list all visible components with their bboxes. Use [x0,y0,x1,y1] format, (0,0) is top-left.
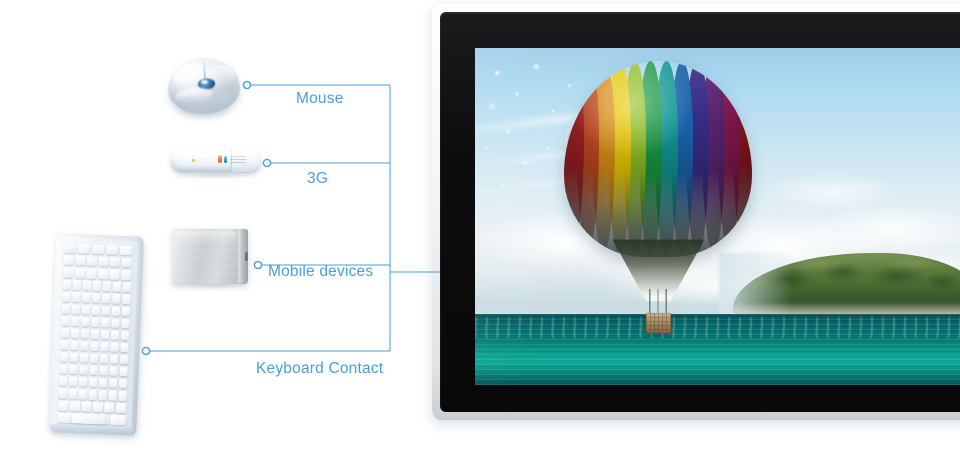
keyboard-key [93,402,103,412]
keyboard-key [116,403,126,413]
keyboard-key [81,329,90,339]
keyboard-key [69,377,78,387]
keyboard-keys [48,232,144,435]
keyboard-key [92,293,101,303]
callout-label-mouse: Mouse [296,90,344,108]
keyboard-key [92,245,105,255]
keyboard-key [110,415,126,425]
keyboard-key [75,268,85,278]
keyboard-key [82,305,91,315]
keyboard-key [111,330,120,340]
keyboard-key [122,282,131,292]
computer-mouse-image [168,58,240,114]
mouse-scroll-wheel-highlight [201,80,208,84]
keyboard-key [111,318,120,328]
keyboard-key [88,390,97,400]
keyboard-key [86,269,96,279]
keyboard-key [63,268,73,278]
keyboard-key [78,390,87,400]
keyboard-key [70,341,79,351]
keyboard-key [63,280,72,290]
keyboard-key [62,292,71,302]
keyboard-key [99,366,108,376]
lcd-monitor [432,4,960,420]
keyboard-key [60,340,69,350]
keyboard-key [122,294,131,304]
keyboard-key [59,377,68,387]
keyboard-key [82,293,91,303]
keyboard-key [64,256,74,266]
screen-island [733,253,960,317]
keyboard-key [101,330,110,340]
keyboard-key [100,354,109,364]
drive-port [245,252,248,261]
keyboard-key [72,305,81,315]
drive-body [172,228,248,284]
keyboard-key [99,378,108,388]
keyboard-key [83,281,92,291]
keyboard-key [61,328,70,338]
keyboard-key [119,379,128,389]
drive-gloss [176,230,236,244]
keyboard-key [104,403,114,413]
dongle-yellow-indicator [192,159,195,162]
keyboard-key [91,317,100,327]
keyboard-key [78,244,91,254]
keyboard-key [101,318,110,328]
keyboard-key [73,280,82,290]
balloon-envelope [564,61,752,257]
screen-hot-air-balloon [564,61,752,361]
keyboard-key [93,281,102,291]
mobile-device-image [172,228,254,286]
keyboard-key [92,305,101,315]
keyboard-key [71,329,80,339]
keyboard-key [110,258,120,268]
keyboard-key [90,354,99,364]
balloon-basket [646,313,671,333]
keyboard-key [112,294,121,304]
keyboard-key [98,257,108,267]
dongle-gloss [177,150,253,159]
keyboard-key [87,257,97,267]
keyboard-key [109,367,118,377]
keyboard-image [52,234,144,440]
keyboard-key [59,365,68,375]
keyboard-key [121,331,130,341]
keyboard-key [60,353,69,363]
keyboard-key [112,306,121,316]
keyboard-key [118,391,127,401]
keyboard-spacebar [72,414,106,425]
keyboard-key [59,389,68,399]
keyboard-key [62,304,71,314]
keyboard-key [110,342,119,352]
connector-node-mobile-devices [254,261,261,268]
connector-node-mouse [243,81,250,88]
keyboard-key [109,379,118,389]
keyboard-key [68,389,77,399]
keyboard-key [89,366,98,376]
keyboard-key [81,317,90,327]
keyboard-key [80,353,89,363]
keyboard-key [89,378,98,388]
keyboard-key [98,269,108,279]
basket-weave-texture [646,313,671,333]
keyboard-key [120,355,129,365]
keyboard-key [64,244,77,254]
keyboard-key [75,256,85,266]
keyboard-key [69,365,78,375]
monitor-screen [475,48,960,385]
keyboard-key [110,354,119,364]
connector-node-3g [263,159,270,166]
keyboard-key [58,401,68,411]
keyboard-key [98,390,107,400]
connector-lines [146,85,440,351]
keyboard-key [119,367,128,377]
keyboard-key [120,343,129,353]
connector-nodes [142,81,270,354]
keyboard-key [70,353,79,363]
keyboard-key [79,377,88,387]
keyboard-key [81,402,91,412]
keyboard-key [112,282,121,292]
keyboard-key [121,319,130,329]
keyboard-key [102,306,111,316]
keyboard-key [100,342,109,352]
keyboard-key [121,306,130,316]
keyboard-key [61,316,70,326]
keyboard-key [79,365,88,375]
keyboard-key [121,270,131,280]
keyboard-key [71,317,80,327]
callout-label-mobile-devices: Mobile devices [268,263,373,281]
keyboard-key [72,292,81,302]
callout-label-3g: 3G [307,170,328,188]
callout-label-keyboard-contact: Keyboard Contact [256,360,383,378]
keyboard-key [70,401,80,411]
balloon-shading [564,61,752,257]
keyboard-key [102,294,111,304]
keyboard-key [122,258,132,268]
keyboard-key [108,391,117,401]
3g-usb-dongle-image [170,146,262,176]
keyboard-body [48,232,144,435]
keyboard-key [102,282,111,292]
keyboard-key [90,342,99,352]
keyboard-key [120,246,133,256]
keyboard-key [91,329,100,339]
infographic-canvas: Mouse 3G Mobile devices Keyboard Contact [0,0,960,450]
keyboard-key [80,341,89,351]
keyboard-key [110,270,120,280]
keyboard-key [106,245,119,255]
